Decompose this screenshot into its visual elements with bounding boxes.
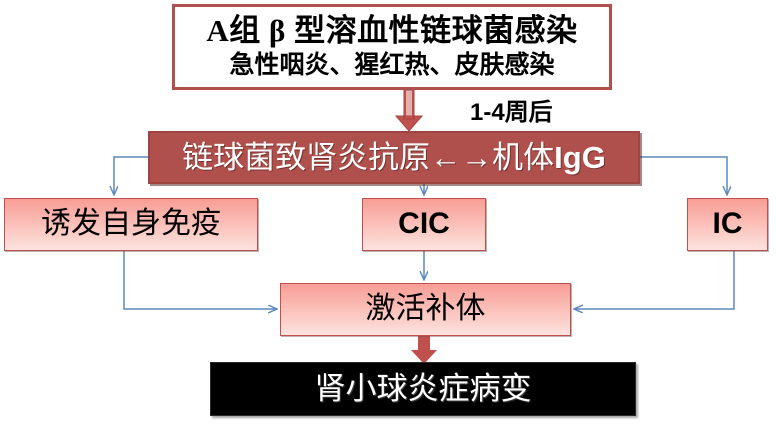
- edge-complement-to-lesion: [411, 336, 437, 364]
- edge-ic-to-complement: [575, 251, 734, 309]
- bidirectional-arrow-icon: ←→: [430, 140, 492, 175]
- node-antigen-label-right: 机体: [492, 140, 554, 175]
- node-lesion: 肾小球炎症病变: [210, 362, 636, 416]
- flowchart-canvas: A组 β 型溶血性链球菌感染 急性咽炎、猩红热、皮肤感染 1-4周后 链球菌致肾…: [0, 0, 779, 429]
- node-lesion-label: 肾小球炎症病变: [315, 371, 532, 407]
- node-antigen-label-left: 链球菌致肾炎抗原: [182, 140, 430, 175]
- edge-antigen-to-ic: [640, 157, 727, 194]
- node-antigen-label: 链球菌致肾炎抗原←→机体IgG: [182, 140, 606, 176]
- edge-infection-to-antigen: [396, 90, 422, 131]
- node-complement: 激活补体: [280, 283, 571, 336]
- node-complement-label: 激活补体: [366, 292, 486, 327]
- node-infection-title: A组 β 型溶血性链球菌感染: [206, 13, 577, 49]
- edge-antigen-to-autoimmune: [114, 157, 148, 194]
- edge-autoimmune-to-complement: [124, 251, 276, 309]
- edge-label-interval: 1-4周后: [470, 92, 553, 127]
- node-autoimmune: 诱发自身免疫: [4, 198, 258, 251]
- node-antigen-label-igg: IgG: [554, 140, 606, 175]
- node-ic: IC: [687, 198, 768, 251]
- node-infection: A组 β 型溶血性链球菌感染 急性咽炎、猩红热、皮肤感染: [172, 4, 612, 90]
- node-antigen: 链球菌致肾炎抗原←→机体IgG: [148, 131, 640, 184]
- node-autoimmune-label: 诱发自身免疫: [41, 207, 221, 242]
- node-ic-label: IC: [713, 207, 743, 242]
- node-cic-label: CIC: [398, 207, 450, 242]
- node-cic: CIC: [362, 198, 486, 251]
- node-infection-subtitle: 急性咽炎、猩红热、皮肤感染: [229, 52, 554, 81]
